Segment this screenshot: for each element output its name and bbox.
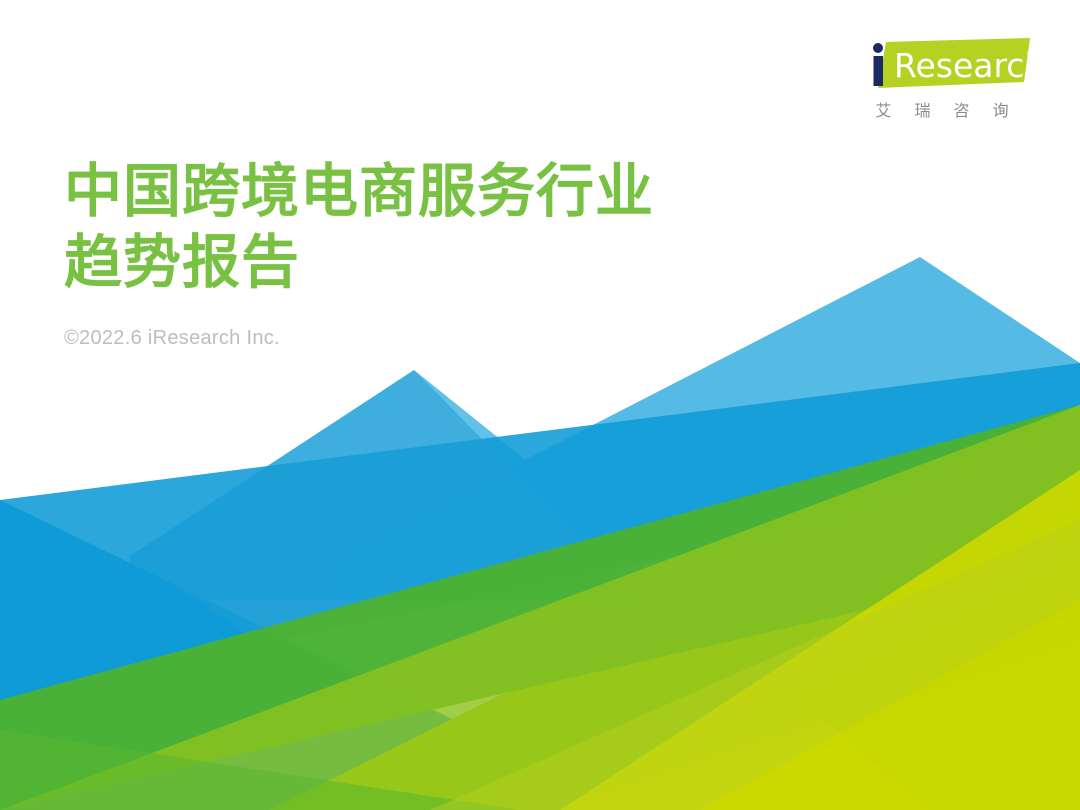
report-cover-slide: Research 艾 瑞 咨 询 中国跨境电商服务行业 趋势报告 ©2022.6… (0, 0, 1080, 810)
green-field (0, 405, 1080, 810)
title-block: 中国跨境电商服务行业 趋势报告 ©2022.6 iResearch Inc. (64, 160, 654, 350)
deep-blue-band (0, 363, 1080, 700)
logo-badge-icon: Research (852, 36, 1032, 94)
lower-left-green (0, 730, 520, 810)
logo-i-stem (874, 56, 884, 86)
iresearch-logo: Research 艾 瑞 咨 询 (852, 36, 1032, 121)
lime-base (270, 405, 1080, 810)
logo-i-dot (873, 43, 883, 53)
copyright-notice: ©2022.6 iResearch Inc. (64, 327, 654, 350)
logo-wordmark: Research (894, 46, 1032, 85)
logo-mark: Research (852, 36, 1032, 94)
logo-chinese-name: 艾 瑞 咨 询 (852, 97, 1032, 121)
report-title-line-2: 趋势报告 (64, 231, 654, 294)
green-sheen (430, 520, 1080, 810)
report-title-line-1: 中国跨境电商服务行业 (64, 160, 654, 223)
grass-green-slope (0, 405, 1080, 810)
blue-overlap-wedge (130, 370, 640, 690)
background-artwork (0, 0, 1080, 810)
left-blue-slope (0, 500, 640, 810)
bottom-right-highlight (800, 560, 1080, 810)
lime-wedge (560, 470, 1080, 810)
center-blue-mountain (130, 370, 700, 600)
